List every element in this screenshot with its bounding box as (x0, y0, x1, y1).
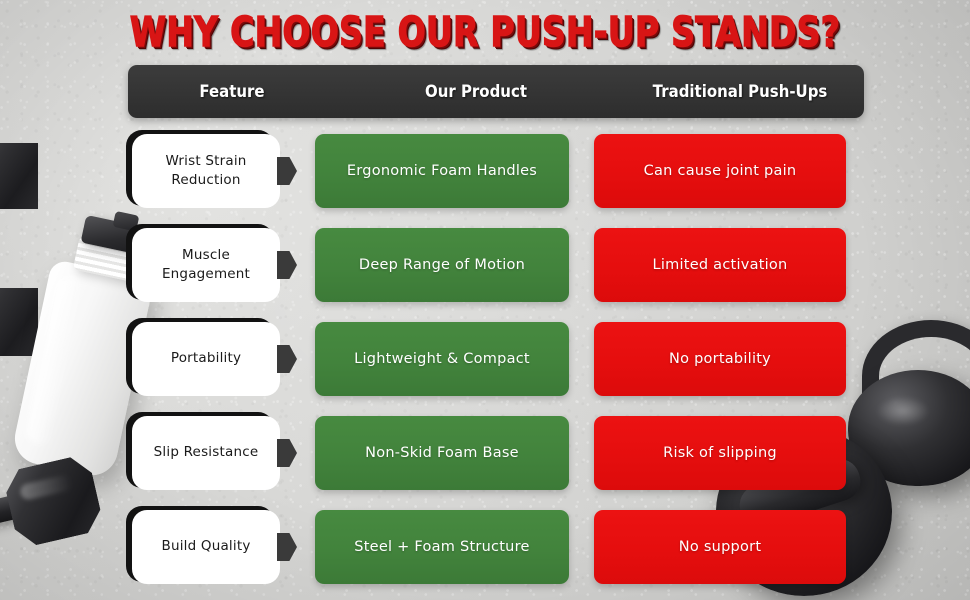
traditional-cell[interactable]: Risk of slipping (594, 416, 846, 490)
traditional-label: No portability (659, 351, 781, 367)
our-product-cell[interactable]: Lightweight & Compact (315, 322, 569, 396)
our-product-cell[interactable]: Non-Skid Foam Base (315, 416, 569, 490)
feature-label: MuscleEngagement (154, 246, 258, 284)
chevron-right-icon (277, 439, 297, 467)
traditional-label: Limited activation (643, 257, 798, 273)
our-product-cell[interactable]: Steel + Foam Structure (315, 510, 569, 584)
traditional-label: No support (669, 539, 772, 555)
feature-card: Slip Resistance (132, 416, 280, 490)
feature-cell[interactable]: Build Quality (130, 509, 278, 585)
our-product-label: Ergonomic Foam Handles (337, 163, 547, 179)
feature-card: Portability (132, 322, 280, 396)
our-product-cell[interactable]: Ergonomic Foam Handles (315, 134, 569, 208)
feature-label: Build Quality (153, 537, 258, 556)
feature-label: Wrist StrainReduction (157, 152, 254, 190)
feature-card: Wrist StrainReduction (132, 134, 280, 208)
table-row: Build QualitySteel + Foam StructureNo su… (0, 509, 970, 585)
feature-cell[interactable]: Wrist StrainReduction (130, 133, 278, 209)
traditional-cell[interactable]: Limited activation (594, 228, 846, 302)
chevron-right-icon (277, 345, 297, 373)
chevron-right-icon (277, 157, 297, 185)
feature-cell[interactable]: Portability (130, 321, 278, 397)
our-product-cell[interactable]: Deep Range of Motion (315, 228, 569, 302)
our-product-label: Deep Range of Motion (349, 257, 535, 273)
infographic-root: WHY CHOOSE OUR PUSH-UP STANDS? Feature O… (0, 0, 970, 600)
table-row: PortabilityLightweight & CompactNo porta… (0, 321, 970, 397)
traditional-label: Risk of slipping (653, 445, 787, 461)
feature-cell[interactable]: Slip Resistance (130, 415, 278, 491)
table-row: Slip ResistanceNon-Skid Foam BaseRisk of… (0, 415, 970, 491)
chevron-right-icon (277, 251, 297, 279)
table-row: Wrist StrainReductionErgonomic Foam Hand… (0, 133, 970, 209)
traditional-label: Can cause joint pain (634, 163, 807, 179)
table-row: MuscleEngagementDeep Range of MotionLimi… (0, 227, 970, 303)
chevron-right-icon (277, 533, 297, 561)
feature-label: Portability (163, 349, 249, 368)
feature-card: Build Quality (132, 510, 280, 584)
traditional-cell[interactable]: Can cause joint pain (594, 134, 846, 208)
traditional-cell[interactable]: No portability (594, 322, 846, 396)
our-product-label: Non-Skid Foam Base (355, 445, 529, 461)
comparison-content: WHY CHOOSE OUR PUSH-UP STANDS? Feature O… (0, 0, 970, 600)
feature-cell[interactable]: MuscleEngagement (130, 227, 278, 303)
comparison-rows: Wrist StrainReductionErgonomic Foam Hand… (0, 0, 970, 600)
our-product-label: Lightweight & Compact (344, 351, 540, 367)
traditional-cell[interactable]: No support (594, 510, 846, 584)
feature-label: Slip Resistance (146, 443, 267, 462)
feature-card: MuscleEngagement (132, 228, 280, 302)
our-product-label: Steel + Foam Structure (344, 539, 539, 555)
